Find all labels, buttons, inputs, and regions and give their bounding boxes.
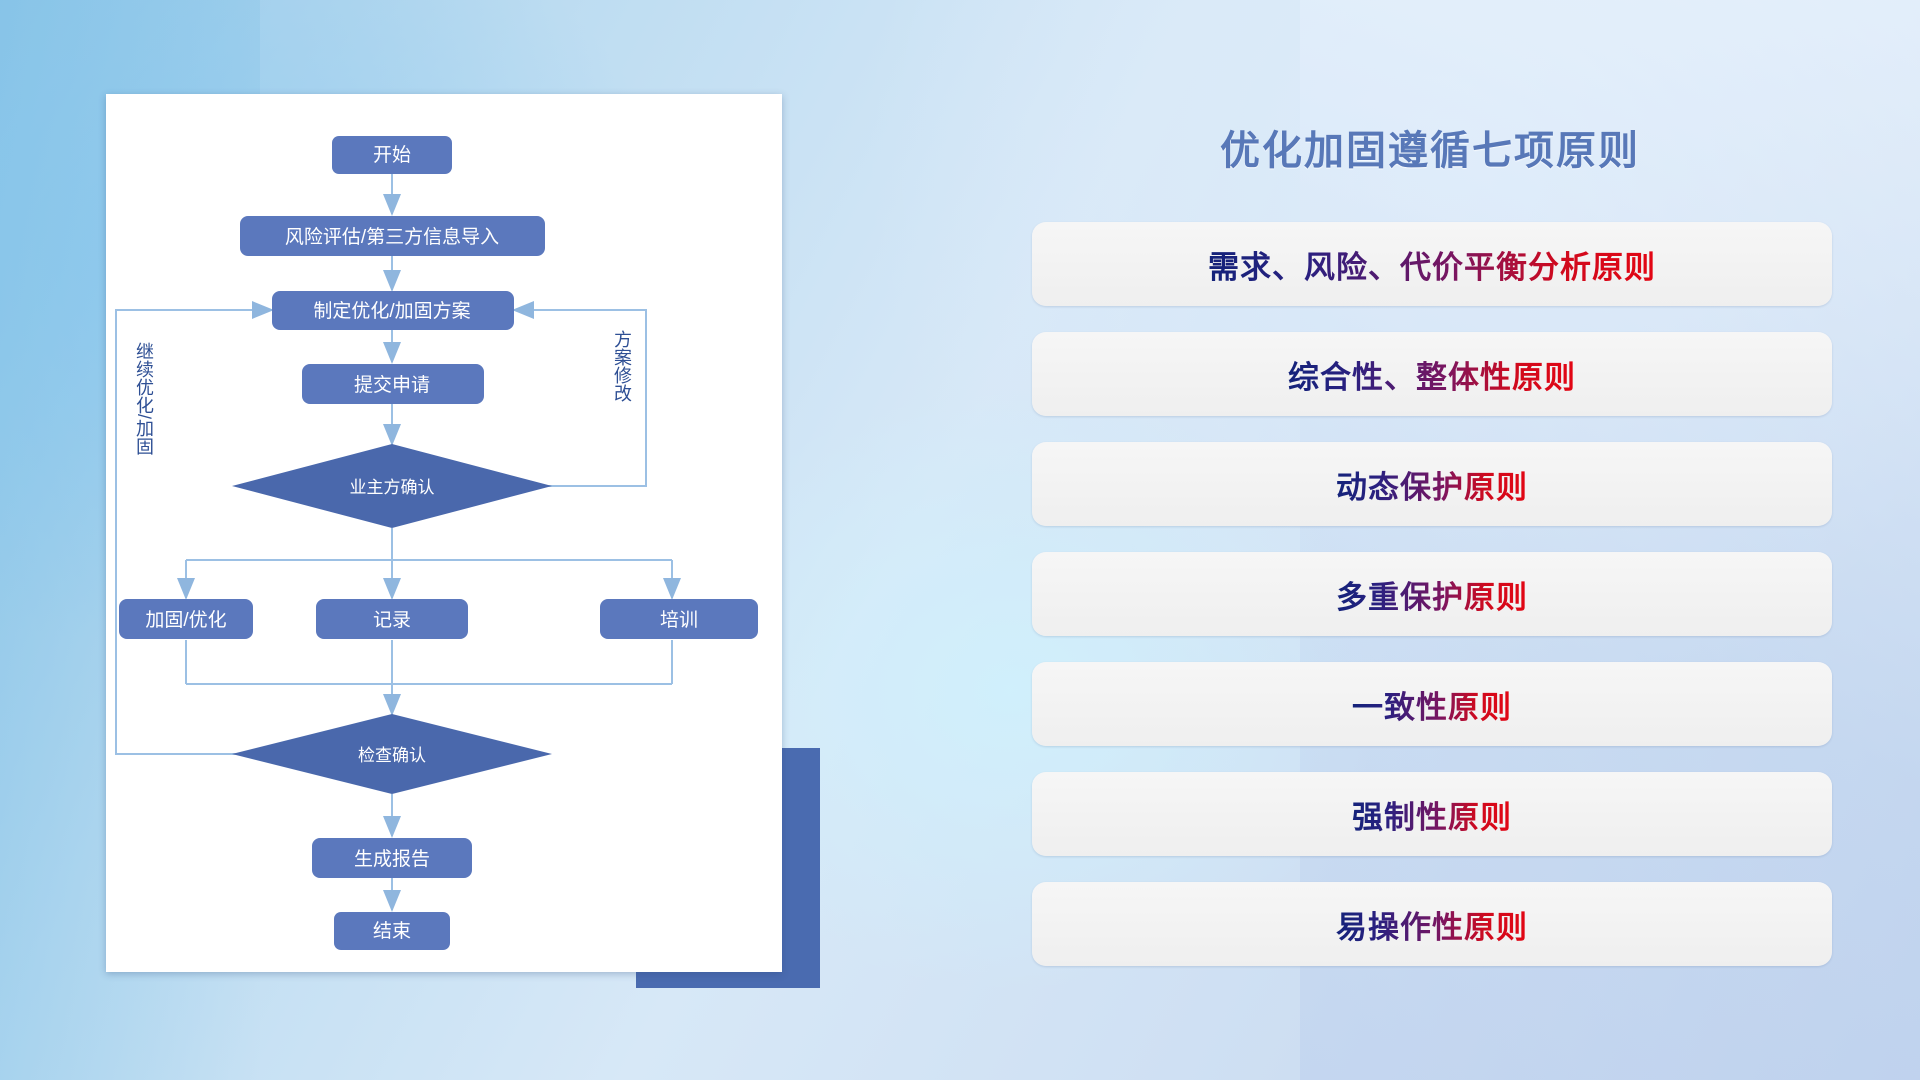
node-reinforce-optimize: 加固/优化 [119, 599, 253, 639]
svg-text:制定优化/加固方案: 制定优化/加固方案 [313, 300, 470, 322]
flowchart-panel: 开始 风险评估/第三方信息导入 制定优化/加固方案 提交申请 业主方确认 加固/… [106, 94, 782, 972]
node-record: 记录 [316, 599, 468, 639]
flowchart-svg: 开始 风险评估/第三方信息导入 制定优化/加固方案 提交申请 业主方确认 加固/… [106, 94, 782, 972]
svg-text:检查确认: 检查确认 [358, 746, 426, 765]
principle-label: 需求、风险、代价平衡分析原则 [1208, 242, 1656, 287]
node-training: 培训 [600, 599, 758, 639]
svg-text:提交申请: 提交申请 [354, 374, 430, 396]
principle-card[interactable]: 多重保护原则 [1032, 552, 1832, 636]
edge-label-continue-optimize: 继续优化/加固 [134, 342, 154, 455]
principle-label: 一致性原则 [1352, 682, 1512, 727]
principle-label: 多重保护原则 [1336, 572, 1528, 617]
svg-text:业主方确认: 业主方确认 [350, 478, 435, 497]
principles-title: 优化加固遵循七项原则 [1020, 118, 1840, 176]
principle-card[interactable]: 需求、风险、代价平衡分析原则 [1032, 222, 1832, 306]
edge-label-plan-revision: 方案修改 [612, 330, 632, 402]
principle-label: 动态保护原则 [1336, 462, 1528, 507]
svg-text:生成报告: 生成报告 [354, 848, 430, 870]
principle-card[interactable]: 一致性原则 [1032, 662, 1832, 746]
principle-card[interactable]: 强制性原则 [1032, 772, 1832, 856]
node-owner-confirm: 业主方确认 [232, 444, 552, 528]
svg-text:培训: 培训 [660, 609, 698, 631]
svg-text:风险评估/第三方信息导入: 风险评估/第三方信息导入 [285, 226, 499, 248]
principles-card-list: 需求、风险、代价平衡分析原则 综合性、整体性原则 动态保护原则 多重保护原则 一… [1032, 222, 1832, 992]
svg-text:加固/优化: 加固/优化 [145, 609, 226, 631]
principle-card[interactable]: 综合性、整体性原则 [1032, 332, 1832, 416]
node-risk-assessment: 风险评估/第三方信息导入 [240, 216, 545, 256]
svg-text:开始: 开始 [373, 144, 411, 166]
node-end: 结束 [334, 912, 450, 950]
node-start: 开始 [332, 136, 452, 174]
principle-label: 易操作性原则 [1336, 902, 1528, 947]
principle-label: 综合性、整体性原则 [1288, 352, 1576, 397]
node-generate-report: 生成报告 [312, 838, 472, 878]
principle-label: 强制性原则 [1352, 792, 1512, 837]
node-check-confirm: 检查确认 [232, 714, 552, 794]
node-submit-application: 提交申请 [302, 364, 484, 404]
principle-card[interactable]: 易操作性原则 [1032, 882, 1832, 966]
svg-text:结束: 结束 [373, 920, 411, 942]
svg-text:记录: 记录 [373, 609, 411, 631]
principle-card[interactable]: 动态保护原则 [1032, 442, 1832, 526]
node-make-plan: 制定优化/加固方案 [272, 291, 514, 330]
principles-section: 优化加固遵循七项原则 需求、风险、代价平衡分析原则 综合性、整体性原则 动态保护… [1020, 92, 1840, 1022]
